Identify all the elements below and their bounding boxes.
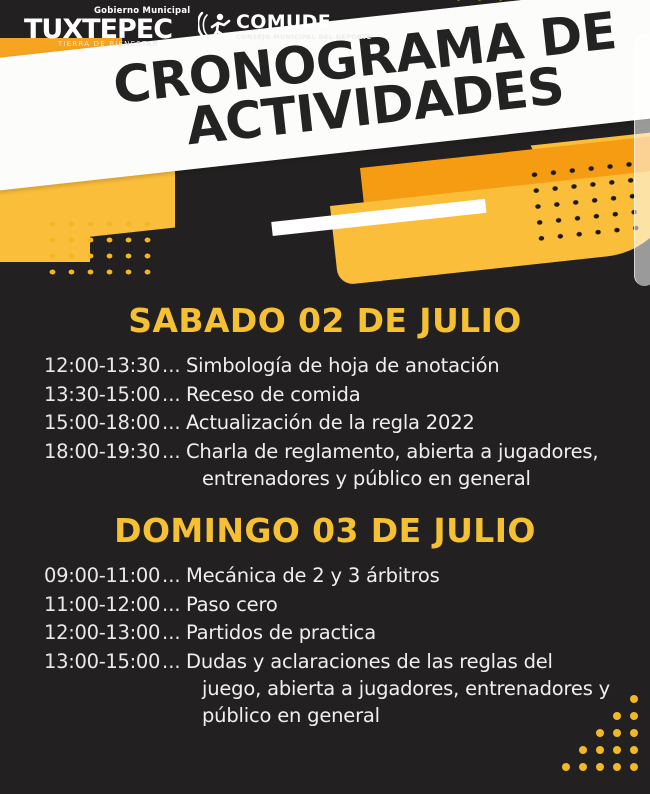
row-description-line-2: entrenadores y público en general	[186, 466, 630, 493]
logo-bar: Gobierno Municipal TUXTEPEC TIERRA DE BI…	[0, 0, 650, 52]
dot	[613, 763, 621, 771]
comude-logo-name: COMUDE	[236, 11, 331, 33]
day-rows: 12:00-13:30 ... Simbología de hoja de an…	[0, 353, 650, 494]
dot	[630, 729, 638, 737]
row-separator: ...	[162, 439, 186, 466]
dot	[596, 763, 604, 771]
row-description: Charla de reglamento, abierta a jugadore…	[186, 439, 630, 493]
poster: CRONOGRAMA DE ACTIVIDADES Gobierno Munic…	[0, 0, 650, 794]
schedule-row: 18:00-19:30 ... Charla de reglamento, ab…	[44, 439, 630, 493]
dot-row	[553, 729, 638, 746]
schedule-row: 11:00-12:00 ... Paso cero	[44, 592, 630, 619]
dot-grid-icon-lower-left	[40, 213, 152, 277]
row-separator: ...	[162, 382, 186, 409]
row-time: 18:00-19:30	[44, 439, 162, 466]
day-title: DOMINGO 03 DE JULIO	[0, 514, 650, 549]
dot	[613, 746, 621, 754]
dot	[613, 712, 621, 720]
dot	[613, 729, 621, 737]
row-separator: ...	[162, 592, 186, 619]
schedule-row: 12:00-13:00 ... Partidos de practica	[44, 620, 630, 647]
dot	[579, 763, 587, 771]
row-time: 13:30-15:00	[44, 382, 162, 409]
row-time: 11:00-12:00	[44, 592, 162, 619]
row-separator: ...	[162, 649, 186, 676]
runner-icon	[198, 10, 232, 42]
dot	[630, 763, 638, 771]
dot-row	[553, 695, 638, 712]
comude-logo: COMUDE CONSEJO MUNICIPAL DEL DEPORTE	[198, 9, 328, 45]
schedule-row: 13:30-15:00 ... Receso de comida	[44, 382, 630, 409]
dot	[630, 695, 638, 703]
tuxtepec-logo-tagline: TIERRA DE BIENESTAR	[58, 40, 159, 48]
dot	[596, 746, 604, 754]
tuxtepec-logo: Gobierno Municipal TUXTEPEC TIERRA DE BI…	[22, 6, 182, 48]
row-description: Simbología de hoja de anotación	[186, 353, 630, 380]
row-separator: ...	[162, 353, 186, 380]
schedule-row: 13:00-15:00 ... Dudas y aclaraciones de …	[44, 649, 630, 730]
dot-row	[553, 746, 638, 763]
schedule-row: 15:00-18:00 ... Actualización de la regl…	[44, 410, 630, 437]
row-time: 09:00-11:00	[44, 563, 162, 590]
row-time: 12:00-13:00	[44, 620, 162, 647]
schedule-row: 09:00-11:00 ... Mecánica de 2 y 3 árbitr…	[44, 563, 630, 590]
dot	[630, 712, 638, 720]
dot-triangle-icon-bottom-right	[553, 695, 638, 780]
dot-row	[553, 712, 638, 729]
row-separator: ...	[162, 563, 186, 590]
dot-row	[553, 763, 638, 780]
row-separator: ...	[162, 620, 186, 647]
day-title: SABADO 02 DE JULIO	[0, 304, 650, 339]
row-description: Paso cero	[186, 592, 630, 619]
dot	[579, 746, 587, 754]
row-separator: ...	[162, 410, 186, 437]
day-block-saturday: SABADO 02 DE JULIO 12:00-13:30 ... Simbo…	[0, 304, 650, 495]
row-description: Actualización de la regla 2022	[186, 410, 630, 437]
row-description-line-1: Charla de reglamento, abierta a jugadore…	[186, 440, 598, 463]
row-time: 15:00-18:00	[44, 410, 162, 437]
dot-grid-icon-on-orange	[522, 154, 642, 244]
comude-logo-tagline: CONSEJO MUNICIPAL DEL DEPORTE	[236, 33, 371, 41]
row-description-line-1: Dudas y aclaraciones de las reglas del	[186, 650, 553, 673]
dot	[630, 746, 638, 754]
row-description: Mecánica de 2 y 3 árbitros	[186, 563, 630, 590]
dot	[596, 729, 604, 737]
row-time: 12:00-13:30	[44, 353, 162, 380]
row-description: Receso de comida	[186, 382, 630, 409]
dot	[562, 763, 570, 771]
row-description: Partidos de practica	[186, 620, 630, 647]
row-time: 13:00-15:00	[44, 649, 162, 676]
decor-right-edge-strip	[634, 34, 650, 286]
schedule-row: 12:00-13:30 ... Simbología de hoja de an…	[44, 353, 630, 380]
